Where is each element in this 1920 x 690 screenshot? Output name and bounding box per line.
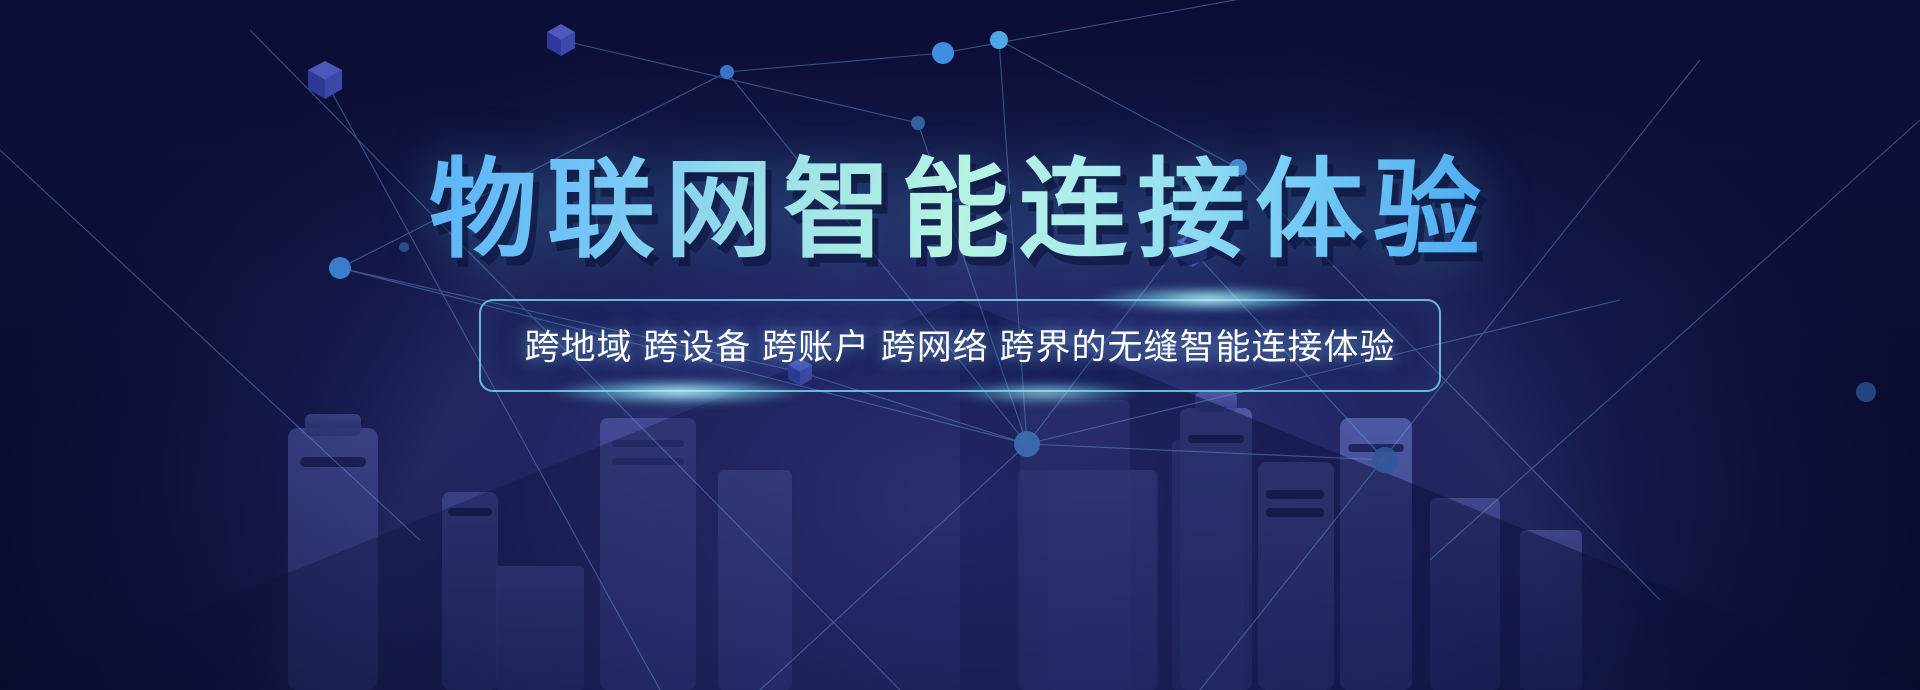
iot-hero-banner: 物联网智能连接体验 跨地域 跨设备 跨账户 跨网络 跨界的无缝智能连接体验 bbox=[0, 0, 1920, 690]
subtitle-text: 跨地域 跨设备 跨账户 跨网络 跨界的无缝智能连接体验 bbox=[525, 319, 1396, 370]
subtitle-container: 跨地域 跨设备 跨账户 跨网络 跨界的无缝智能连接体验 bbox=[479, 299, 1442, 392]
subtitle-box: 跨地域 跨设备 跨账户 跨网络 跨界的无缝智能连接体验 bbox=[479, 299, 1442, 392]
page-title: 物联网智能连接体验 bbox=[429, 150, 1491, 271]
banner-content: 物联网智能连接体验 跨地域 跨设备 跨账户 跨网络 跨界的无缝智能连接体验 bbox=[0, 0, 1920, 690]
